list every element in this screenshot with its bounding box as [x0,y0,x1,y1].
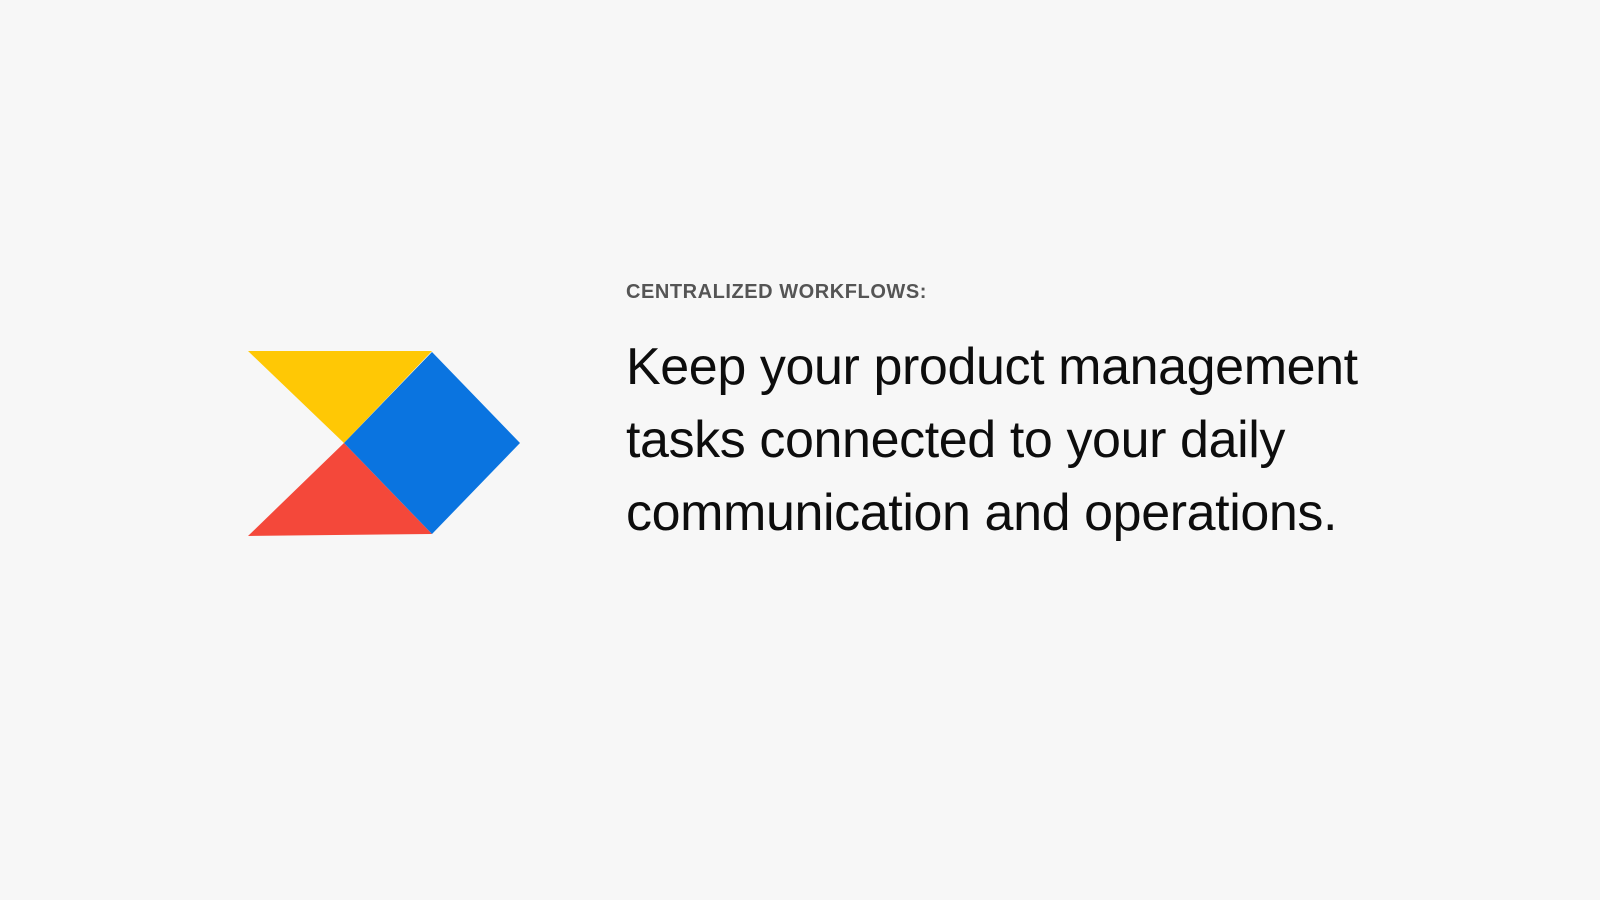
page-title: Keep your product management tasks conne… [626,331,1366,550]
logo-svg [248,351,520,537]
eyebrow-label: CENTRALIZED WORKFLOWS: [626,279,1406,305]
tri-color-chevron-diamond-logo [248,351,520,537]
feature-text-block: CENTRALIZED WORKFLOWS: Keep your product… [626,279,1406,550]
feature-slide: CENTRALIZED WORKFLOWS: Keep your product… [0,0,1600,900]
